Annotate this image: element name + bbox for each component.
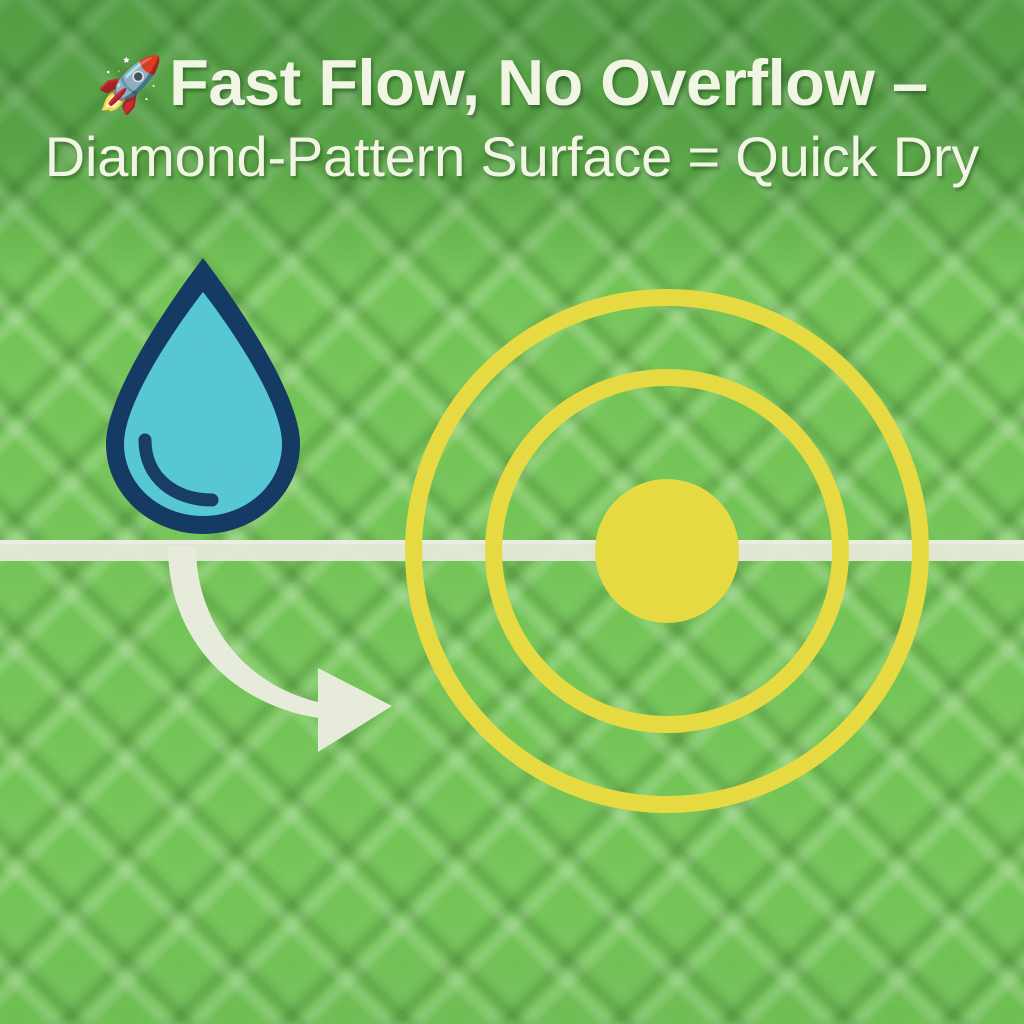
headline-line-1: 🚀Fast Flow, No Overflow – [0,46,1024,122]
headline-block: 🚀Fast Flow, No Overflow – Diamond-Patter… [0,46,1024,190]
rocket-icon: 🚀 [96,55,163,115]
water-droplet [106,258,300,534]
absorption-target [414,298,921,805]
headline-line-1-text: Fast Flow, No Overflow – [169,46,927,119]
horizontal-white-stripe [0,540,1024,561]
headline-line-2: Diamond-Pattern Surface = Quick Dry [0,124,1024,190]
promo-image-canvas: 🚀Fast Flow, No Overflow – Diamond-Patter… [0,0,1024,1024]
flow-arrow [168,546,392,752]
